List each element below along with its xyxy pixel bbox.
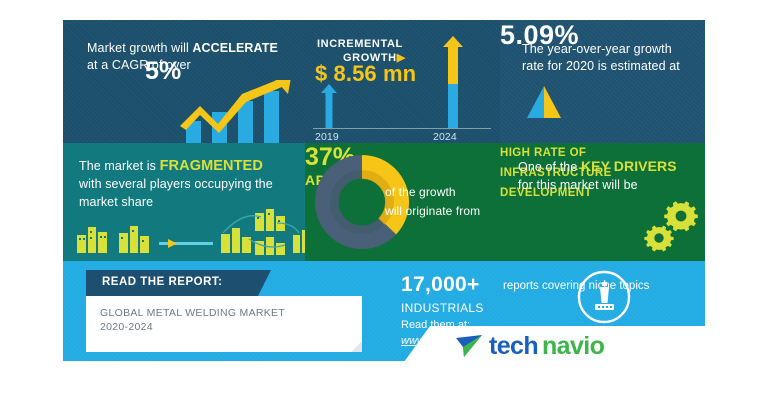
drivers-text-line2: for this market will be <box>518 178 638 192</box>
drivers-text-before: One of the <box>518 160 581 174</box>
report-count: 17,000+ <box>401 273 480 297</box>
logo-text-part2: navio <box>542 334 604 359</box>
panel-market-growth-cagr: Market growth will ACCELERATE at a CAGR … <box>63 20 305 143</box>
cagr-text-before: Market growth will <box>87 41 192 55</box>
cagr-text: Market growth will ACCELERATE at a CAGR … <box>87 40 302 73</box>
read-the-report-tab[interactable]: READ THE REPORT: <box>86 270 258 296</box>
apac-description: of the growth will originate from <box>385 183 497 221</box>
infographic-canvas: Market growth will ACCELERATE at a CAGR … <box>0 0 768 401</box>
report-card[interactable]: GLOBAL METAL WELDING MARKET 2020-2024 <box>86 296 362 352</box>
yoy-text: The year-over-year growth rate for 2020 … <box>522 41 702 74</box>
fragmented-text-emphasis: FRAGMENTED <box>160 158 263 174</box>
incremental-axis-line <box>313 128 491 129</box>
technavio-logo: technavio <box>455 331 604 361</box>
panel-market-fragmentation: The market is FRAGMENTED with several pl… <box>63 143 305 261</box>
fragmented-text-before: The market is <box>79 159 160 173</box>
panel-key-drivers: One of the KEY DRIVERS for this market w… <box>500 143 705 261</box>
city-buildings-icon <box>71 209 305 257</box>
apac-text-line1: of the growth <box>385 185 456 199</box>
incremental-year-start: 2019 <box>315 129 339 143</box>
yoy-text-line1: The year-over-year growth <box>522 42 672 56</box>
incremental-year-end: 2024 <box>433 129 457 143</box>
incremental-growth-value: $ 8.56 mn <box>315 66 416 83</box>
yoy-text-line2: rate for 2020 is estimated at <box>522 59 680 73</box>
growth-arrow-bar-chart-icon <box>178 80 303 143</box>
panel-incremental-growth: INCREMENTAL GROWTH▶ $ 8.56 mn 2019 2024 <box>305 20 500 143</box>
report-title-line1: GLOBAL METAL WELDING MARKET <box>100 307 285 319</box>
panel-apac-share: 37% of the growth will originate from AP… <box>305 143 500 261</box>
drivers-text: One of the KEY DRIVERS for this market w… <box>518 157 698 194</box>
drivers-text-emphasis: KEY DRIVERS <box>581 158 677 174</box>
report-title-line2: 2020-2024 <box>100 321 153 333</box>
cagr-value: 5% <box>145 63 181 80</box>
arrow-up-icon <box>321 84 337 128</box>
incremental-heading-line1: INCREMENTAL <box>317 38 403 50</box>
lighthouse-icon <box>576 269 632 325</box>
report-category: INDUSTRIALS <box>401 301 484 315</box>
report-title: GLOBAL METAL WELDING MARKET 2020-2024 <box>100 306 350 334</box>
fragmented-text-line2: with several players occupying the <box>79 177 273 191</box>
fragmented-text: The market is FRAGMENTED with several pl… <box>79 157 304 211</box>
gears-icon <box>643 201 699 253</box>
apac-text-line2: will originate from <box>385 204 480 218</box>
read-the-report-label: READ THE REPORT: <box>102 276 222 288</box>
cagr-text-emphasis: ACCELERATE <box>192 41 278 55</box>
panel-yoy-growth: The year-over-year growth rate for 2020 … <box>500 20 705 143</box>
logo-text-part1: tech <box>489 334 538 359</box>
technavio-paperplane-icon <box>455 333 485 359</box>
fragmented-text-line3: market share <box>79 195 153 209</box>
arrow-up-icon-large <box>443 36 463 128</box>
triangle-up-icon <box>527 86 561 118</box>
